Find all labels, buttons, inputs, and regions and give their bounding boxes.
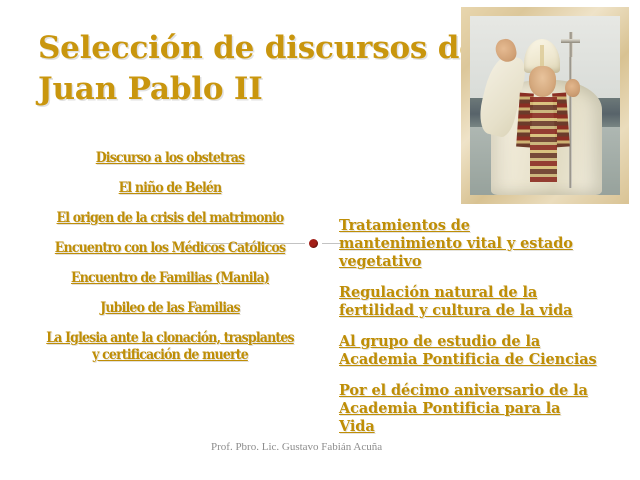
photo-frame (461, 7, 629, 204)
left-list-item-2[interactable]: El niño de Belén (44, 180, 297, 197)
slide-title-line-2: Juan Pablo II (38, 69, 458, 110)
left-list-item-7[interactable]: La Iglesia ante la clonación, trasplante… (44, 330, 297, 364)
left-list-item-4[interactable]: Encuentro con los Médicos Católicos (44, 240, 297, 257)
crucifix-vertical (569, 32, 573, 57)
slide-title: Selección de discursos de Juan Pablo II (38, 28, 458, 110)
right-list-item-2[interactable]: Regulación natural de la fertilidad y cu… (339, 284, 597, 320)
left-list-item-3[interactable]: El origen de la crisis del matrimonio (44, 210, 297, 227)
gripping-hand (565, 79, 580, 97)
right-discourse-list: Tratamientos de mantenimiento vital y es… (339, 217, 597, 449)
left-list-item-5[interactable]: Encuentro de Familias (Manila) (44, 270, 297, 287)
right-list-item-4[interactable]: Por el décimo aniversario de la Academia… (339, 382, 597, 436)
left-list-item-1[interactable]: Discurso a los obstetras (44, 150, 297, 167)
right-list-item-3[interactable]: Al grupo de estudio de la Academia Ponti… (339, 333, 597, 369)
left-list-item-6[interactable]: Jubileo de las Familias (44, 300, 297, 317)
pope-john-paul-ii-photo (470, 16, 620, 195)
crucifix-crossbar (561, 39, 581, 43)
right-list-item-1[interactable]: Tratamientos de mantenimiento vital y es… (339, 217, 597, 271)
crosier-staff (569, 48, 572, 188)
left-discourse-list: Discurso a los obstetras El niño de Belé… (34, 150, 306, 377)
connector-bullet-dot (309, 239, 318, 248)
slide-title-line-1: Selección de discursos de (38, 28, 458, 69)
pallium-center (530, 97, 557, 183)
pope-face (529, 66, 556, 96)
presentation-slide: Selección de discursos de Juan Pablo II … (0, 0, 640, 480)
